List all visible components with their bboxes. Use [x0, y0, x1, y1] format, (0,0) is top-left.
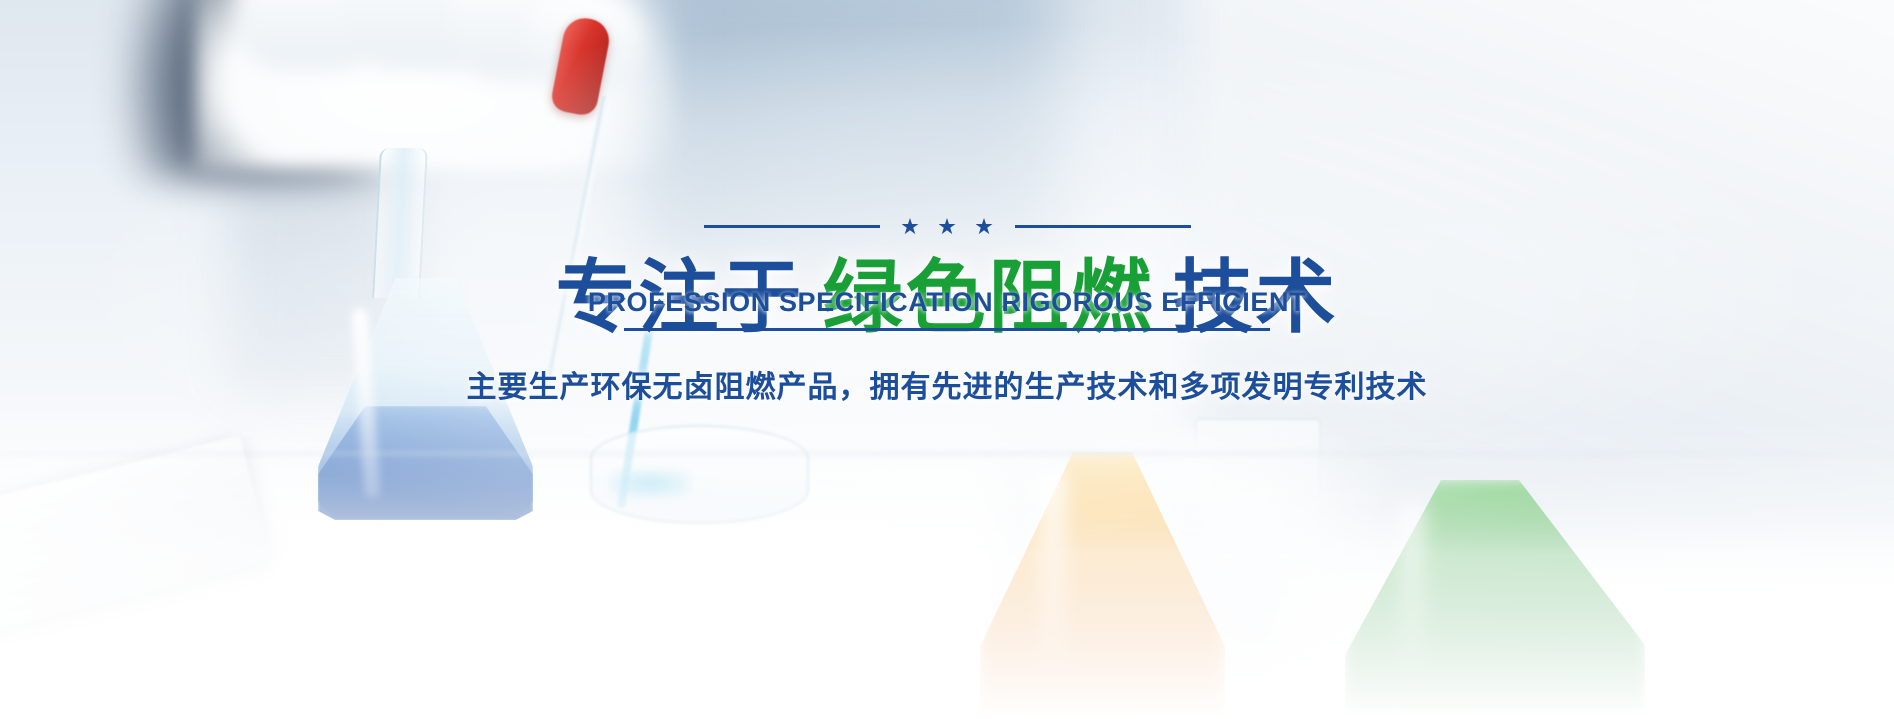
rule-segment-left [704, 225, 880, 228]
subtitle-english: PROFESSION SPECIFICATION RIGOROUS EFFICI… [588, 287, 1306, 318]
decorative-rule-top [624, 218, 1270, 235]
rule-segment-right [1015, 225, 1191, 228]
hero-banner: 专注于绿色阻燃技术 PROFESSION SPECIFICATION RIGOR… [0, 0, 1894, 719]
star-group [880, 218, 1015, 235]
banner-content: 专注于绿色阻燃技术 PROFESSION SPECIFICATION RIGOR… [0, 0, 1894, 719]
star-icon [976, 218, 993, 235]
decorative-rule-bottom [624, 328, 1270, 331]
star-icon [902, 218, 919, 235]
star-icon [939, 218, 956, 235]
tagline-chinese: 主要生产环保无卤阻燃产品，拥有先进的生产技术和多项发明专利技术 [467, 362, 1428, 406]
